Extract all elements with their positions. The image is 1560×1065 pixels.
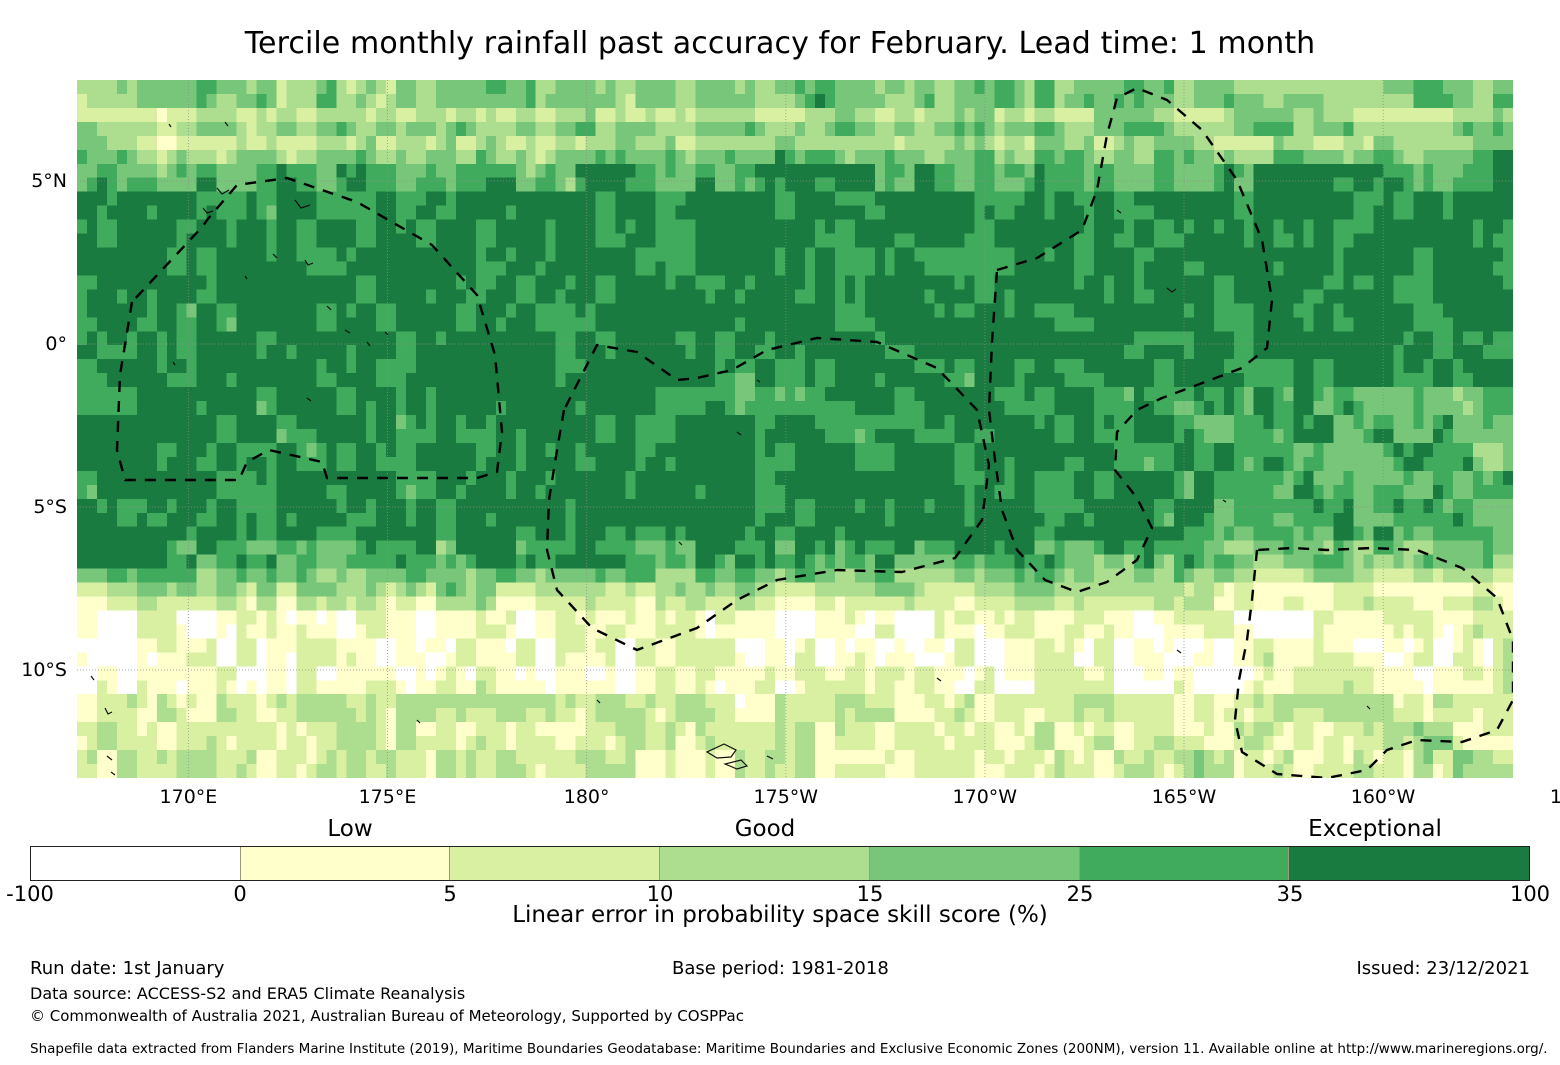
colorbar-category-labels: LowGoodExceptional xyxy=(0,816,1560,844)
skill-score-heatmap xyxy=(77,80,1513,778)
x-tick-label: 155°W xyxy=(1550,786,1560,808)
map-plot-area[interactable] xyxy=(77,80,1513,778)
y-tick-label: 0° xyxy=(45,333,67,355)
colorbar-segment[interactable] xyxy=(1289,847,1529,880)
colorbar-segment[interactable] xyxy=(870,847,1080,880)
footer-copyright: © Commonwealth of Australia 2021, Austra… xyxy=(30,1007,744,1025)
x-tick-label: 160°W xyxy=(1351,786,1416,808)
x-tick-label: 175°W xyxy=(754,786,819,808)
x-tick-label: 170°W xyxy=(953,786,1018,808)
colorbar-category-exceptional: Exceptional xyxy=(1308,816,1442,842)
y-tick-label: 5°S xyxy=(33,496,67,518)
page-title: Tercile monthly rainfall past accuracy f… xyxy=(0,26,1560,61)
colorbar-category-good: Good xyxy=(735,816,796,842)
colorbar-category-low: Low xyxy=(327,816,372,842)
colorbar-segment[interactable] xyxy=(31,847,241,880)
y-tick-label: 5°N xyxy=(31,170,67,192)
x-tick-label: 180° xyxy=(564,786,610,808)
x-tick-label: 175°E xyxy=(359,786,417,808)
colorbar-segment[interactable] xyxy=(660,847,870,880)
footer-data-source: Data source: ACCESS-S2 and ERA5 Climate … xyxy=(30,984,465,1003)
colorbar-axis-label: Linear error in probability space skill … xyxy=(0,902,1560,928)
colorbar-segment[interactable] xyxy=(450,847,660,880)
footer-shapefile-attribution: Shapefile data extracted from Flanders M… xyxy=(30,1041,1548,1057)
colorbar[interactable] xyxy=(30,846,1530,881)
colorbar-segment[interactable] xyxy=(1080,847,1290,880)
x-tick-label: 170°E xyxy=(160,786,218,808)
footer: Run date: 1st January Base period: 1981-… xyxy=(0,958,1560,1065)
x-tick-label: 165°W xyxy=(1152,786,1217,808)
colorbar-segment[interactable] xyxy=(241,847,451,880)
footer-issued-date: Issued: 23/12/2021 xyxy=(1356,958,1530,979)
y-tick-label: 10°S xyxy=(21,659,67,681)
footer-run-date: Run date: 1st January xyxy=(30,958,224,979)
footer-base-period: Base period: 1981-2018 xyxy=(672,958,889,979)
